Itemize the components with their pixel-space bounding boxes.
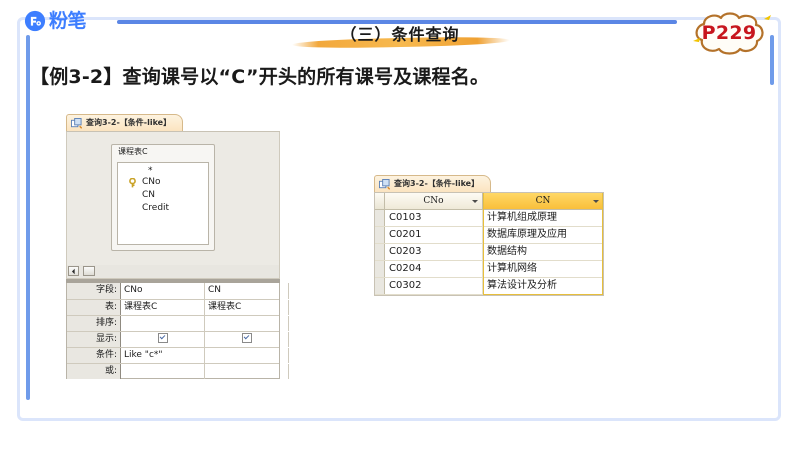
- page-number-badge: P229: [686, 10, 772, 56]
- row-selector[interactable]: [375, 227, 385, 243]
- grid-row-field: 字段: CNo CN: [67, 283, 279, 299]
- field-list-item[interactable]: *: [118, 166, 208, 176]
- field-list-item[interactable]: CNo: [118, 176, 208, 189]
- grid-cell-field-1[interactable]: CNo: [121, 283, 205, 299]
- example-statement: 【例3-2】查询课号以“C”开头的所有课号及课程名。: [30, 62, 489, 89]
- design-tabstrip: 查询3-2-【条件-like】: [66, 114, 280, 132]
- grid-cell-field-3[interactable]: [289, 283, 292, 299]
- field-list-box[interactable]: 课程表C * CNo CN: [111, 144, 215, 251]
- design-table-pane[interactable]: 课程表C * CNo CN: [66, 132, 280, 265]
- field-label: *: [148, 167, 153, 176]
- datasheet-tabstrip: 查询3-2-【条件-like】: [374, 175, 604, 193]
- row-selector[interactable]: [375, 278, 385, 294]
- cell-cno[interactable]: C0201: [385, 227, 483, 243]
- grid-cell-field-2[interactable]: CN: [205, 283, 289, 299]
- cell-cno[interactable]: C0203: [385, 244, 483, 260]
- field-list-item[interactable]: CN: [118, 189, 208, 202]
- table-row[interactable]: C0204 计算机网络: [375, 261, 603, 278]
- table-row[interactable]: C0103 计算机组成原理: [375, 210, 603, 227]
- scroll-left-arrow-icon[interactable]: [68, 266, 79, 276]
- grid-row-label: 或:: [67, 364, 121, 379]
- access-query-result-window: 查询3-2-【条件-like】 CNo CN C0103 计算机组成原理: [374, 175, 604, 303]
- grid-row-label: 排序:: [67, 316, 121, 331]
- field-label: CNo: [142, 178, 161, 187]
- query-datasheet-icon: [379, 179, 390, 190]
- design-document-tab[interactable]: 查询3-2-【条件-like】: [66, 114, 183, 131]
- cell-cn[interactable]: 计算机网络: [483, 261, 603, 277]
- grid-cell-or-2[interactable]: [205, 364, 289, 379]
- row-selector[interactable]: [375, 244, 385, 260]
- grid-cell-criteria-1[interactable]: Like "c*": [121, 348, 205, 363]
- design-horizontal-scrollbar[interactable]: [66, 265, 280, 279]
- datasheet-document-tab[interactable]: 查询3-2-【条件-like】: [374, 175, 491, 192]
- show-checkbox-2[interactable]: [242, 333, 252, 343]
- grid-row-table: 表: 课程表C 课程表C: [67, 299, 279, 315]
- cell-cn[interactable]: 算法设计及分析: [483, 278, 603, 294]
- cell-cno[interactable]: C0204: [385, 261, 483, 277]
- column-header-cn[interactable]: CN: [483, 193, 603, 209]
- brand-wordmark: 粉笔: [49, 12, 86, 31]
- scrollbar-thumb[interactable]: [83, 266, 95, 276]
- grid-cell-table-3[interactable]: [289, 300, 292, 315]
- grid-cell-sort-1[interactable]: [121, 316, 205, 331]
- grid-row-show: 显示:: [67, 331, 279, 347]
- query-design-grid[interactable]: 字段: CNo CN 表: 课程表C 课程表C 排序: 显示:: [66, 283, 280, 379]
- field-list-item[interactable]: Credit: [118, 202, 208, 215]
- primary-key-icon: [128, 178, 137, 188]
- page-title: （三）条件查询: [300, 21, 500, 45]
- chevron-down-icon[interactable]: [472, 200, 478, 203]
- table-row[interactable]: C0203 数据结构: [375, 244, 603, 261]
- cell-cn[interactable]: 数据库原理及应用: [483, 227, 603, 243]
- field-label: CN: [142, 191, 155, 200]
- select-all-corner[interactable]: [375, 193, 385, 209]
- datasheet-grid[interactable]: CNo CN C0103 计算机组成原理 C0201 数据库原理及应用: [374, 193, 604, 296]
- grid-cell-show-1[interactable]: [121, 332, 205, 347]
- grid-cell-show-3[interactable]: [289, 332, 292, 347]
- grid-cell-table-2[interactable]: 课程表C: [205, 300, 289, 315]
- field-list-title: 课程表C: [112, 145, 214, 158]
- grid-row-label: 显示:: [67, 332, 121, 347]
- datasheet-header-row: CNo CN: [375, 193, 603, 210]
- slide-canvas: 粉笔 P229 （三）条件查询 【例3-2】查询课号以“C”开头的所有课号及课程…: [0, 0, 800, 450]
- grid-cell-sort-2[interactable]: [205, 316, 289, 331]
- grid-row-label: 表:: [67, 300, 121, 315]
- grid-cell-show-2[interactable]: [205, 332, 289, 347]
- grid-row-label: 字段:: [67, 283, 121, 299]
- cell-cn[interactable]: 数据结构: [483, 244, 603, 260]
- cell-cn[interactable]: 计算机组成原理: [483, 210, 603, 226]
- grid-cell-criteria-3[interactable]: [289, 348, 292, 363]
- table-row[interactable]: C0201 数据库原理及应用: [375, 227, 603, 244]
- chevron-down-icon[interactable]: [593, 200, 599, 203]
- field-label: Credit: [142, 204, 169, 213]
- show-checkbox-1[interactable]: [158, 333, 168, 343]
- fb-logo-icon: [24, 10, 46, 32]
- field-list-body: * CNo CN Credit: [117, 162, 209, 245]
- cell-cno[interactable]: C0103: [385, 210, 483, 226]
- access-query-design-window: 查询3-2-【条件-like】 课程表C * CNo: [66, 114, 280, 379]
- column-header-cno-label: CNo: [423, 196, 443, 206]
- grid-cell-criteria-2[interactable]: [205, 348, 289, 363]
- design-tab-label: 查询3-2-【条件-like】: [86, 119, 171, 127]
- column-header-cno[interactable]: CNo: [385, 193, 483, 209]
- grid-row-or: 或:: [67, 363, 279, 379]
- grid-row-criteria: 条件: Like "c*": [67, 347, 279, 363]
- grid-row-label: 条件:: [67, 348, 121, 363]
- column-header-cn-label: CN: [536, 196, 551, 206]
- left-accent-bar: [26, 35, 30, 400]
- grid-row-sort: 排序:: [67, 315, 279, 331]
- grid-cell-or-1[interactable]: [121, 364, 205, 379]
- query-design-icon: [71, 118, 82, 129]
- brand-logo: 粉笔: [24, 10, 86, 32]
- grid-cell-or-3[interactable]: [289, 364, 292, 379]
- table-row[interactable]: C0302 算法设计及分析: [375, 278, 603, 295]
- grid-cell-table-1[interactable]: 课程表C: [121, 300, 205, 315]
- row-selector[interactable]: [375, 261, 385, 277]
- datasheet-tab-label: 查询3-2-【条件-like】: [394, 180, 479, 188]
- cell-cno[interactable]: C0302: [385, 278, 483, 294]
- row-selector[interactable]: [375, 210, 385, 226]
- left-arrow-glyph: [70, 268, 77, 275]
- grid-cell-sort-3[interactable]: [289, 316, 292, 331]
- page-number-text: P229: [686, 10, 772, 56]
